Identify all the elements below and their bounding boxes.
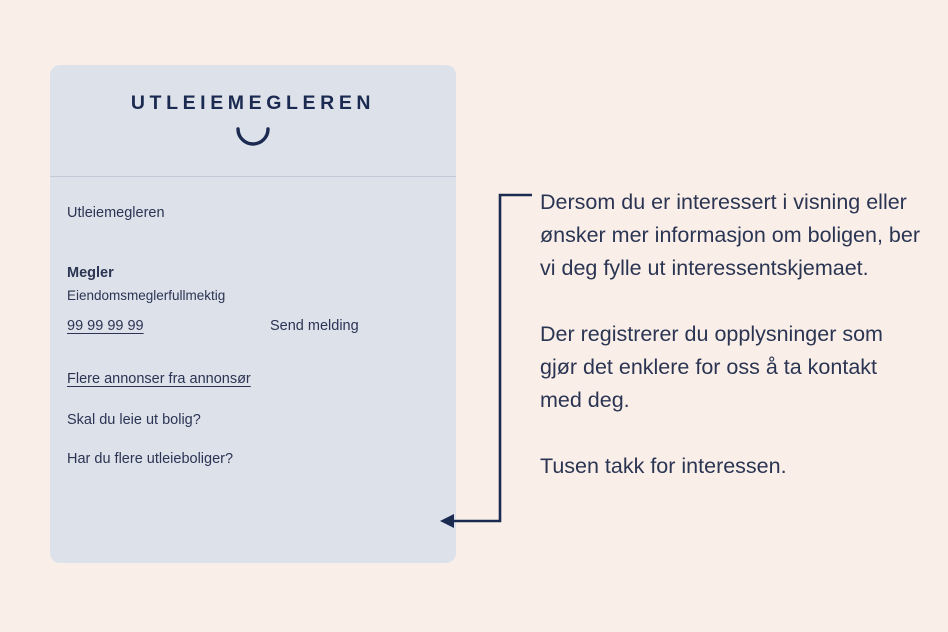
annotation-spacer: [540, 417, 920, 450]
send-message-link[interactable]: Send melding: [270, 318, 359, 335]
agency-name: Utleiemegleren: [67, 205, 165, 222]
callout-annotation: Dersom du er interessert i visning eller…: [540, 186, 920, 483]
annotation-paragraph-2: Der registrerer du opplysninger som gjør…: [540, 318, 920, 417]
brand-wordmark: UTLEIEMEGLEREN: [50, 94, 456, 114]
rent-out-property-link[interactable]: Skal du leie ut bolig?: [67, 412, 201, 429]
agent-phone-link[interactable]: 99 99 99 99: [67, 318, 144, 335]
agent-role-heading: Megler: [67, 265, 114, 282]
more-ads-from-advertiser-link[interactable]: Flere annonser fra annonsør: [67, 371, 251, 388]
annotation-spacer: [540, 285, 920, 318]
agent-contact-card: UTLEIEMEGLEREN Utleiemegleren Megler Eie…: [50, 65, 456, 563]
agent-job-title: Eiendomsmeglerfullmektig: [67, 288, 225, 304]
card-header: UTLEIEMEGLEREN: [50, 65, 456, 177]
annotation-paragraph-3: Tusen takk for interessen.: [540, 450, 920, 483]
more-rental-properties-link[interactable]: Har du flere utleieboliger?: [67, 451, 233, 468]
smile-arc-icon: [50, 127, 456, 149]
annotation-paragraph-1: Dersom du er interessert i visning eller…: [540, 186, 920, 285]
card-body: Utleiemegleren Megler Eiendomsmeglerfull…: [50, 177, 456, 563]
